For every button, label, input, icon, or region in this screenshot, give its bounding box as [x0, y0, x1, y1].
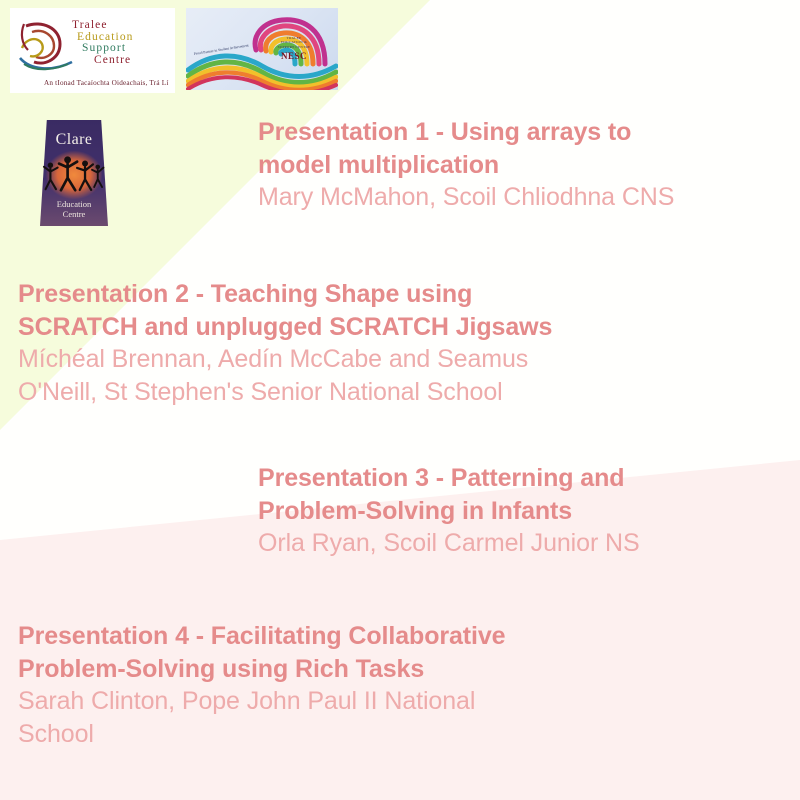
presentation-1-title-line2: model multiplication	[258, 149, 798, 182]
presentation-4-title-line2: Problem-Solving using Rich Tasks	[18, 653, 678, 686]
presentation-block-4: Presentation 4 - Facilitating Collaborat…	[18, 620, 678, 750]
presentation-2-author-line2: O'Neill, St Stephen's Senior National Sc…	[18, 376, 708, 409]
presentation-3-title-line1: Presentation 3 - Patterning and	[258, 462, 798, 495]
tralee-word-line1: Tralee	[72, 20, 134, 32]
tralee-word-line4: Centre	[72, 55, 134, 67]
presentation-4-title-line1: Presentation 4 - Facilitating Collaborat…	[18, 620, 678, 653]
presentation-4-author-line2: School	[18, 718, 678, 751]
presentation-3-title-line2: Problem-Solving in Infants	[258, 495, 798, 528]
logo-tralee-education-support-centre: Tralee Education Support Centre An tIona…	[10, 8, 175, 93]
tralee-wordmark: Tralee Education Support Centre	[72, 20, 134, 67]
presentation-2-title-line2: SCRATCH and unplugged SCRATCH Jigsaws	[18, 311, 708, 344]
presentation-block-1: Presentation 1 - Using arrays to model m…	[258, 116, 798, 214]
tralee-tagline: An tIonad Tacaíochta Oideachais, Trá Lí	[44, 79, 169, 87]
nesc-acronym: NESC	[266, 51, 322, 62]
presentation-1-author-line1: Mary McMahon, Scoil Chliodhna CNS	[258, 181, 798, 214]
nesc-badge: TRALEE EDUCATION & SUPPORT CENTRE NESC	[266, 36, 322, 62]
clare-subtitle: Education Centre	[30, 200, 118, 220]
presentation-3-author-line1: Orla Ryan, Scoil Carmel Junior NS	[258, 527, 798, 560]
presentation-block-3: Presentation 3 - Patterning and Problem-…	[258, 462, 798, 560]
tralee-swirl-icon	[16, 18, 78, 76]
presentation-1-title-line1: Presentation 1 - Using arrays to	[258, 116, 798, 149]
clare-subtitle-line2: Centre	[30, 210, 118, 220]
presentation-2-author-line1: Míchéal Brennan, Aedín McCabe and Seamus	[18, 343, 708, 376]
logo-nesc: Proud Partner in Student Achievement TRA…	[186, 8, 338, 90]
logo-clare-education-centre: Clare Education Centre	[30, 118, 118, 228]
nesc-badge-line3: SUPPORT CENTRE	[266, 45, 322, 49]
presentation-4-author-line1: Sarah Clinton, Pope John Paul II Nationa…	[18, 685, 678, 718]
presentation-poster: Tralee Education Support Centre An tIona…	[0, 0, 800, 800]
presentation-block-2: Presentation 2 - Teaching Shape using SC…	[18, 278, 708, 408]
presentation-2-title-line1: Presentation 2 - Teaching Shape using	[18, 278, 708, 311]
clare-title: Clare	[30, 131, 118, 149]
